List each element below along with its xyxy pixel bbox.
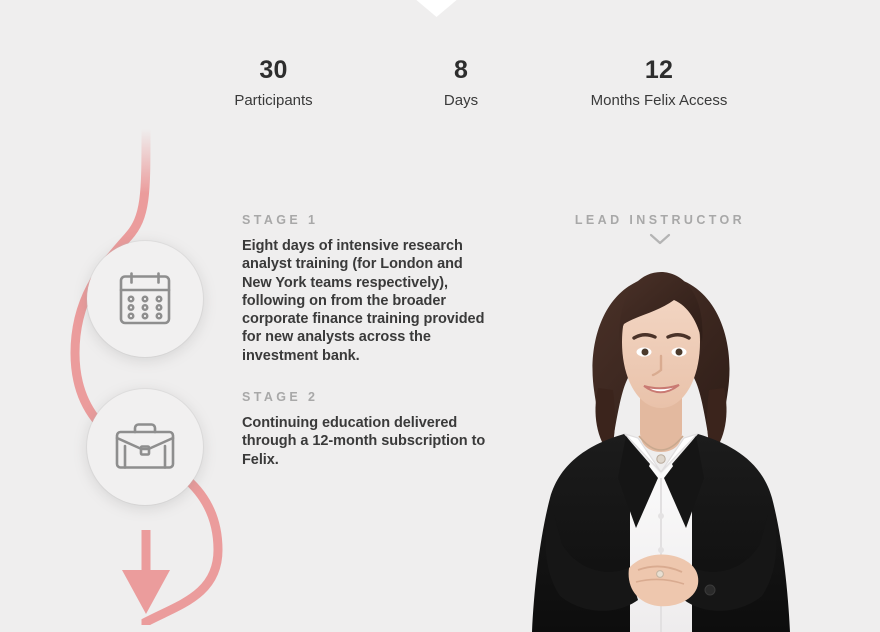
stage-2-label: STAGE 2 xyxy=(242,389,492,405)
stage-1-block: STAGE 1 Eight days of intensive research… xyxy=(242,212,492,365)
stage-2-body: Continuing education delivered through a… xyxy=(242,414,492,469)
stage-1-label: STAGE 1 xyxy=(242,212,492,228)
stat-value: 30 xyxy=(136,56,411,84)
briefcase-icon xyxy=(114,421,176,473)
calendar-icon xyxy=(116,272,174,326)
stat-label: Participants xyxy=(136,92,411,110)
stat-participants: 30 Participants xyxy=(136,56,411,110)
stat-days: 8 Days xyxy=(411,56,511,110)
lead-instructor-column: LEAD INSTRUCTOR xyxy=(500,212,820,245)
top-notch-triangle xyxy=(0,0,880,20)
stat-value: 8 xyxy=(411,56,511,84)
stat-label: Days xyxy=(411,92,511,110)
stats-row: 30 Participants 8 Days 12 Months Felix A… xyxy=(0,56,880,110)
stage-1-body: Eight days of intensive research analyst… xyxy=(242,237,492,365)
instructor-portrait-photo xyxy=(498,238,824,632)
chevron-down-icon[interactable] xyxy=(649,233,671,245)
stat-months-felix-access: 12 Months Felix Access xyxy=(529,56,789,110)
stage-2-block: STAGE 2 Continuing education delivered t… xyxy=(242,389,492,469)
lead-instructor-label: LEAD INSTRUCTOR xyxy=(500,212,820,228)
instructor-portrait-illustration xyxy=(498,238,824,632)
stat-label: Months Felix Access xyxy=(529,92,789,110)
timeline-node-stage-2 xyxy=(87,389,203,505)
timeline-arrow-head-icon xyxy=(118,530,174,620)
stat-value: 12 xyxy=(529,56,789,84)
stages-column: STAGE 1 Eight days of intensive research… xyxy=(242,212,492,469)
timeline-node-stage-1 xyxy=(87,241,203,357)
chevron-down-icon-wrap[interactable] xyxy=(500,233,820,245)
